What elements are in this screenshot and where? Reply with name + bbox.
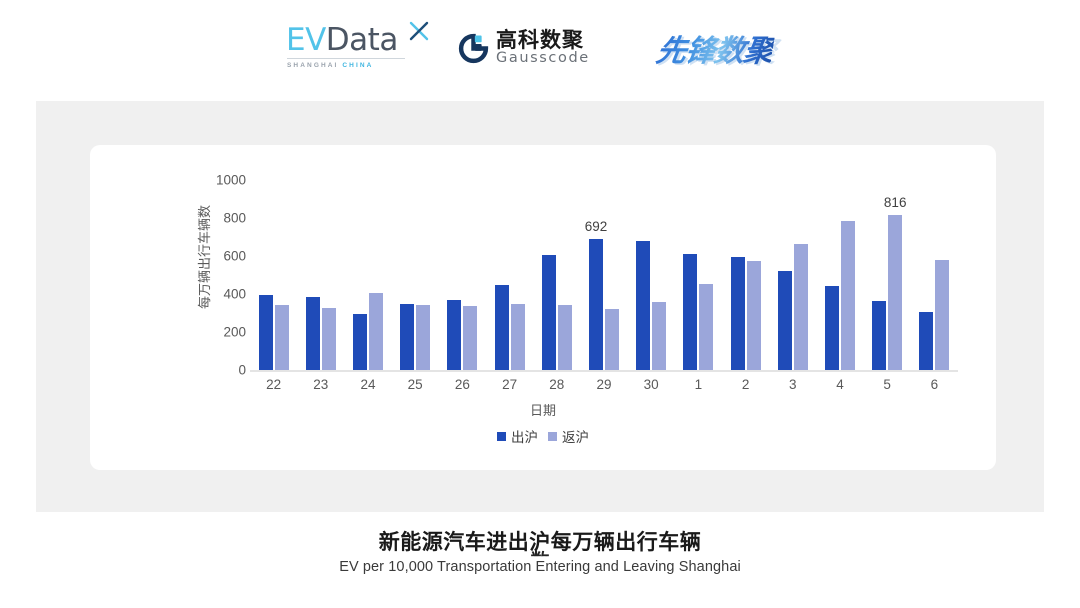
bar-1-出沪 [683, 254, 697, 370]
bar-3-返沪 [794, 244, 808, 370]
bar-3-出沪 [778, 271, 792, 370]
evdata-wordmark: EVData [286, 25, 398, 56]
x-tick-label: 5 [883, 377, 891, 392]
x-tick-label: 24 [360, 377, 375, 392]
chart-card: 每万辆出行车辆数 02004006008001000 2223242526272… [90, 145, 996, 470]
plot-area [250, 180, 958, 370]
bar-group [486, 180, 533, 370]
gausscode-logo: 高科数聚 Gausscode [458, 24, 606, 72]
x-tick-label: 6 [931, 377, 939, 392]
x-tick-label: 25 [408, 377, 423, 392]
y-tick-label: 800 [200, 211, 246, 226]
gausscode-mark-icon [458, 33, 489, 64]
bar-5-出沪 [872, 301, 886, 370]
bar-29-出沪 [589, 239, 603, 370]
figure-caption: 新能源汽车进出沪每万辆出行车辆 数 EV per 10,000 Transpor… [0, 528, 1080, 575]
x-tick-label: 26 [455, 377, 470, 392]
x-tick-label: 4 [836, 377, 844, 392]
bar-group [628, 180, 675, 370]
evdata-logo: EVData SHANGHAI CHINA [282, 22, 432, 74]
evdata-ev-text: EV [286, 22, 326, 58]
bar-value-label: 816 [884, 195, 907, 210]
bar-24-返沪 [369, 293, 383, 370]
chart-legend: 出沪返沪 [90, 426, 996, 446]
x-tick-label: 27 [502, 377, 517, 392]
evdata-tagline: SHANGHAI CHINA [287, 62, 373, 69]
bar-1-返沪 [699, 284, 713, 370]
bar-2-返沪 [747, 261, 761, 370]
bar-4-返沪 [841, 221, 855, 370]
legend-item-出沪[interactable]: 出沪 [497, 426, 538, 446]
bar-2-出沪 [731, 257, 745, 370]
bar-group [297, 180, 344, 370]
gausscode-text-block: 高科数聚 Gausscode [496, 29, 590, 67]
bar-22-出沪 [259, 295, 273, 370]
bar-group [439, 180, 486, 370]
y-axis-ticks: 02004006008001000 [200, 145, 246, 470]
y-tick-label: 0 [200, 363, 246, 378]
bar-group [344, 180, 391, 370]
x-tick-label: 23 [313, 377, 328, 392]
bar-27-返沪 [511, 304, 525, 370]
bar-4-出沪 [825, 286, 839, 370]
bar-23-返沪 [322, 308, 336, 370]
bar-27-出沪 [495, 285, 509, 371]
bar-5-返沪 [888, 215, 902, 370]
bar-group [722, 180, 769, 370]
bar-30-出沪 [636, 241, 650, 370]
evdata-divider [287, 58, 405, 59]
evdata-x-icon [408, 20, 430, 42]
bar-24-出沪 [353, 314, 367, 370]
x-axis-title: 日期 [90, 400, 996, 419]
legend-swatch [497, 432, 506, 441]
bar-29-返沪 [605, 309, 619, 370]
bar-26-出沪 [447, 300, 461, 370]
bar-28-出沪 [542, 255, 556, 370]
evdata-country-text: CHINA [342, 62, 373, 69]
legend-swatch [548, 432, 557, 441]
bar-28-返沪 [558, 305, 572, 370]
x-tick-label: 30 [644, 377, 659, 392]
bar-group [675, 180, 722, 370]
bar-6-返沪 [935, 260, 949, 370]
bar-group [911, 180, 958, 370]
bar-6-出沪 [919, 312, 933, 370]
x-tick-label: 1 [695, 377, 703, 392]
bar-25-出沪 [400, 304, 414, 370]
legend-label: 返沪 [562, 426, 589, 446]
legend-label: 出沪 [511, 426, 538, 446]
y-tick-label: 400 [200, 287, 246, 302]
xianfeng-cn-text: 先锋数聚 [654, 26, 777, 70]
x-tick-label: 2 [742, 377, 750, 392]
bar-chart: 每万辆出行车辆数 02004006008001000 2223242526272… [90, 145, 996, 470]
bar-group [816, 180, 863, 370]
gausscode-cn-text: 高科数聚 [496, 29, 590, 51]
x-tick-label: 29 [596, 377, 611, 392]
evdata-city-text: SHANGHAI [287, 62, 338, 69]
gausscode-en-text: Gausscode [496, 51, 590, 67]
y-tick-label: 600 [200, 249, 246, 264]
y-tick-label: 200 [200, 325, 246, 340]
x-tick-label: 3 [789, 377, 797, 392]
bar-group [769, 180, 816, 370]
bar-group [392, 180, 439, 370]
bar-value-label: 692 [585, 219, 608, 234]
x-tick-label: 22 [266, 377, 281, 392]
xianfeng-logo: 先锋数聚 先锋数聚 [632, 26, 798, 70]
legend-item-返沪[interactable]: 返沪 [548, 426, 589, 446]
bar-22-返沪 [275, 305, 289, 370]
y-tick-label: 1000 [200, 173, 246, 188]
bar-26-返沪 [463, 306, 477, 370]
logo-bar: EVData SHANGHAI CHINA 高科数聚 Gausscode 先锋数… [0, 0, 1080, 96]
bar-group [533, 180, 580, 370]
x-axis-line [250, 370, 958, 372]
bar-group [580, 180, 627, 370]
x-tick-label: 28 [549, 377, 564, 392]
bar-23-出沪 [306, 297, 320, 370]
bar-25-返沪 [416, 305, 430, 370]
bar-group [250, 180, 297, 370]
caption-en-subtitle: EV per 10,000 Transportation Entering an… [0, 559, 1080, 575]
bar-30-返沪 [652, 302, 666, 370]
evdata-data-text: Data [326, 22, 398, 58]
